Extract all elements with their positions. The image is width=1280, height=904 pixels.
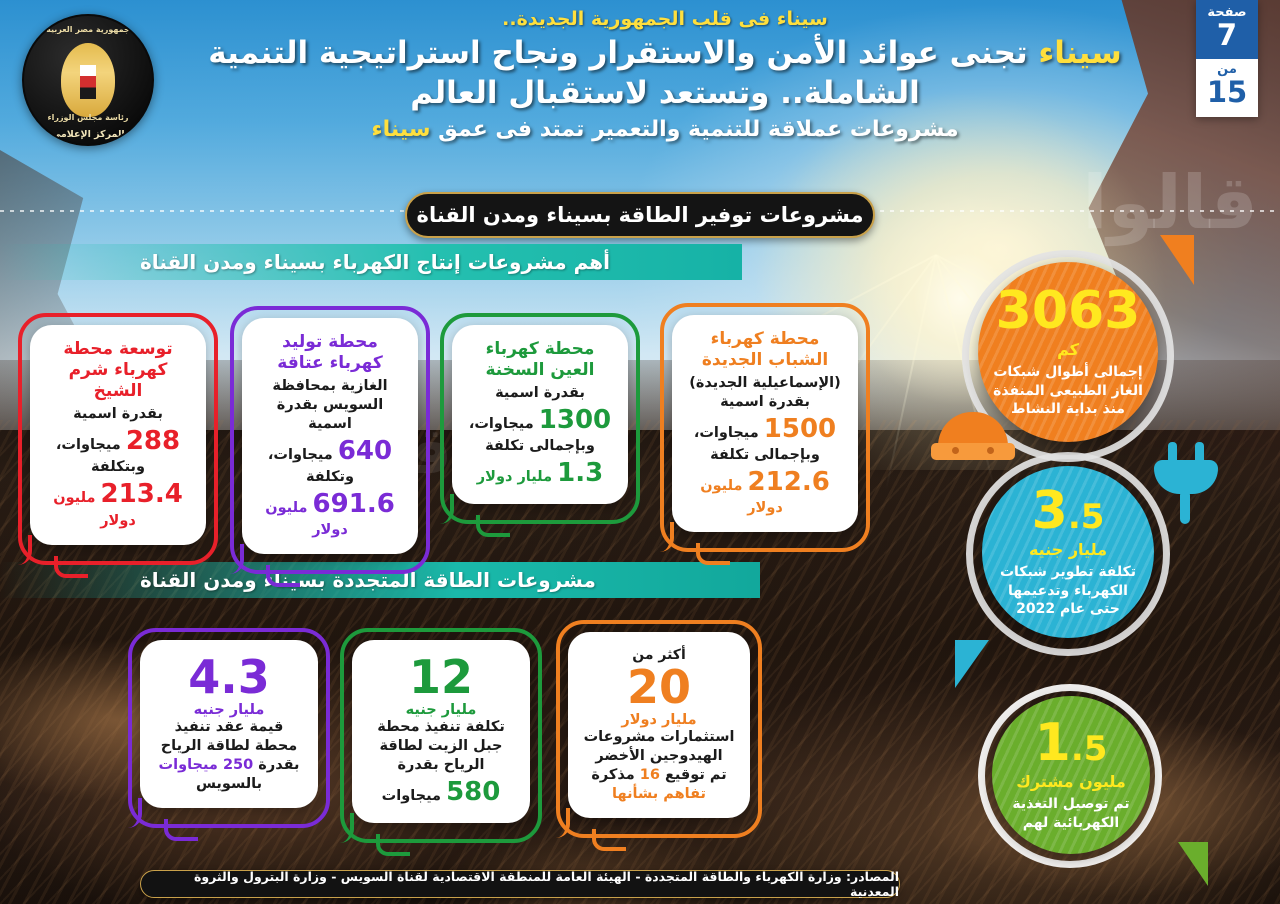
- card-capacity-value: 640: [338, 436, 392, 466]
- card-capacity-line: 640 ميجاوات،: [254, 434, 406, 468]
- card-cost-value: 691.6: [313, 489, 395, 519]
- stat-value-main: 1: [1035, 713, 1071, 773]
- card-cost-line: 691.6 مليون دولار: [254, 487, 406, 540]
- stat-value: 3063: [996, 285, 1141, 337]
- card-title: توسعة محطة كهرباء شرم الشيخ: [42, 339, 194, 402]
- government-logo: جمهورية مصر العربية رئاسة مجلس الوزراء ا…: [22, 14, 154, 146]
- card-cost-line: 212.6 مليون دولار: [684, 465, 846, 518]
- card-line1: قيمة عقد تنفيذ: [152, 718, 306, 737]
- card-renewable-1: 12 مليار جنيه تكلفة تنفيذ محطة جبل الزيت…: [352, 640, 530, 823]
- card-cost-line: 1.3 مليار دولار: [464, 456, 616, 490]
- band-electricity-title: أهم مشروعات إنتاج الكهرباء بسيناء ومدن ا…: [0, 244, 742, 280]
- stat-value-main: 3063: [996, 281, 1141, 341]
- card-line4: تفاهم بشأنها: [580, 785, 738, 804]
- stat-circle-subscribers: 1.5 مليون مشترك تم توصيل التغذية الكهربا…: [992, 696, 1150, 854]
- card-unit: مليار دولار: [580, 712, 738, 728]
- card-value: 12: [364, 654, 518, 700]
- card-line4: 580 ميجاوات: [364, 775, 518, 809]
- card-line3-number: 250: [223, 757, 253, 773]
- page-total: 15: [1196, 77, 1258, 107]
- card-capacity-label: بقدرة اسمية: [42, 405, 194, 424]
- card-capacity-line: 288 ميجاوات،: [42, 424, 194, 458]
- card-title: محطة كهرباء الشباب الجديدة: [684, 329, 846, 371]
- power-plug-icon: [1148, 442, 1224, 506]
- triangle-teal-decoration: [955, 640, 989, 688]
- card-line2: الهيدوجين الأخضر: [580, 747, 738, 766]
- card-cost-label: وبإجمالى تكلفة: [684, 446, 846, 465]
- header-title-highlight: سيناء: [1038, 35, 1121, 71]
- card-line1: استثمارات مشروعات: [580, 728, 738, 747]
- card-cost-label: وبتكلفة: [42, 458, 194, 477]
- stat-value: 1.5: [1035, 717, 1108, 769]
- eagle-emblem-icon: [61, 43, 115, 117]
- stat-value: 3.5: [1032, 485, 1105, 537]
- card-line3: بقدرة 250 ميجاوات: [152, 756, 306, 775]
- header-title-rest: تجنى عوائد الأمن والاستقرار ونجاح استرات…: [208, 35, 1038, 111]
- card-title: محطة كهرباء العين السخنة: [464, 339, 616, 381]
- card-line3-number: 16: [640, 767, 660, 783]
- card-unit: مليار جنيه: [364, 702, 518, 718]
- page-number-badge: صفحة 7 من 15: [1196, 0, 1258, 117]
- card-value: 20: [580, 664, 738, 710]
- card-capacity-value: 1300: [539, 405, 611, 435]
- card-line2: محطة لطاقة الرياح: [152, 737, 306, 756]
- band-renewable-title: مشروعات الطاقة المتجددة بسيناء ومدن القن…: [0, 562, 760, 598]
- card-cost-value: 213.4: [101, 479, 183, 509]
- stat-unit: كم: [1057, 340, 1079, 359]
- page-current: 7: [1196, 20, 1258, 50]
- card-capacity-unit: ميجاوات،: [469, 416, 534, 432]
- stat-circle-electric-networks: 3.5 مليار جنيه تكلفة تطوير شبكات الكهربا…: [982, 466, 1154, 638]
- card-line3-suffix: مذكرة: [591, 767, 639, 783]
- card-capacity-line: 1300 ميجاوات،: [464, 403, 616, 437]
- logo-ring-top-text: جمهورية مصر العربية: [24, 25, 152, 34]
- card-cost-label: وتكلفة: [254, 468, 406, 487]
- header-title: سيناء تجنى عوائد الأمن والاستقرار ونجاح …: [160, 34, 1170, 113]
- stat-value-decimal: .5: [1071, 729, 1108, 769]
- page-badge-top: صفحة 7: [1196, 0, 1258, 59]
- triangle-orange-decoration: [1160, 235, 1194, 285]
- helmet-dot: [987, 447, 994, 454]
- card-capacity-value: 288: [126, 426, 180, 456]
- card-line3-suffix: ميجاوات: [159, 757, 223, 773]
- card-line3: تم توقيع 16 مذكرة: [580, 766, 738, 785]
- card-line4: بالسويس: [152, 775, 306, 794]
- stat-unit: مليون مشترك: [1016, 772, 1126, 791]
- infographic-page: قالوا قالوا جمهورية مصر العربية رئاسة مج…: [0, 0, 1280, 904]
- stat-description: تم توصيل التغذية الكهربائية لهم: [992, 795, 1150, 833]
- card-line4-unit: ميجاوات: [382, 788, 446, 804]
- card-capacity-label: (الإسماعيلية الجديدة) بقدرة اسمية: [684, 374, 846, 412]
- card-electricity-1: محطة توليد كهرباء عتاقة الغازية بمحافظة …: [242, 318, 418, 554]
- card-cost-label: وبإجمالى تكلفة: [464, 437, 616, 456]
- stat-value-decimal: .5: [1068, 497, 1105, 537]
- card-value: 4.3: [152, 654, 306, 700]
- card-renewable-2: أكثر من 20 مليار دولار استثمارات مشروعات…: [568, 632, 750, 818]
- card-capacity-label: الغازية بمحافظة السويس بقدرة اسمية: [254, 377, 406, 434]
- watermark-text: قالوا: [1082, 160, 1258, 246]
- card-title: محطة توليد كهرباء عتاقة: [254, 332, 406, 374]
- card-cost-line: 213.4 مليون دولار: [42, 477, 194, 530]
- card-electricity-0: توسعة محطة كهرباء شرم الشيخ بقدرة اسمية …: [30, 325, 206, 545]
- card-line1: تكلفة تنفيذ محطة: [364, 718, 518, 737]
- card-capacity-line: 1500 ميجاوات،: [684, 412, 846, 446]
- card-capacity-label: بقدرة اسمية: [464, 384, 616, 403]
- header-kicker: سيناء فى قلب الجمهورية الجديدة..: [160, 8, 1170, 30]
- logo-plaque-text: المركز الإعلامى: [51, 129, 124, 140]
- card-renewable-0: 4.3 مليار جنيه قيمة عقد تنفيذ محطة لطاقة…: [140, 640, 318, 808]
- card-line2: جبل الزيت لطاقة: [364, 737, 518, 756]
- card-line4-number: 580: [446, 777, 500, 807]
- card-capacity-unit: ميجاوات،: [694, 425, 759, 441]
- helmet-dot: [952, 447, 959, 454]
- sources-footer: المصادر: وزارة الكهرباء والطاقة المتجددة…: [140, 870, 900, 898]
- header-block: سيناء فى قلب الجمهورية الجديدة.. سيناء ت…: [160, 8, 1170, 142]
- card-capacity-value: 1500: [764, 414, 836, 444]
- card-cost-value: 1.3: [557, 458, 603, 488]
- card-line3-prefix: تم توقيع: [660, 767, 727, 783]
- card-electricity-3: محطة كهرباء الشباب الجديدة (الإسماعيلية …: [672, 315, 858, 532]
- stat-value-main: 3: [1032, 481, 1068, 541]
- card-capacity-unit: ميجاوات،: [268, 447, 333, 463]
- plug-body: [1154, 460, 1218, 494]
- card-cost-value: 212.6: [748, 467, 830, 497]
- header-subtitle-highlight: سيناء: [371, 117, 430, 142]
- card-electricity-2: محطة كهرباء العين السخنة بقدرة اسمية 130…: [452, 325, 628, 504]
- card-capacity-unit: ميجاوات،: [56, 437, 121, 453]
- logo-ring-bottom-text: رئاسة مجلس الوزراء: [24, 113, 152, 122]
- triangle-green-decoration: [1178, 842, 1208, 886]
- header-subtitle: مشروعات عملاقة للتنمية والتعمير تمتد فى …: [160, 117, 1170, 142]
- stat-circle-gas-networks: 3063 كم إجمالى أطوال شبكات الغاز الطبيعى…: [978, 262, 1158, 442]
- card-unit: مليار جنيه: [152, 702, 306, 718]
- header-subtitle-rest: مشروعات عملاقة للتنمية والتعمير تمتد فى …: [430, 117, 958, 142]
- card-line3-prefix: بقدرة: [253, 757, 299, 773]
- stat-description: إجمالى أطوال شبكات الغاز الطبيعى المنفذة…: [978, 363, 1158, 419]
- card-line3: الرياح بقدرة: [364, 756, 518, 775]
- card-cost-unit: مليار دولار: [477, 469, 552, 485]
- stat-unit: مليار جنيه: [1029, 540, 1107, 559]
- section-title-banner: مشروعات توفير الطاقة بسيناء ومدن القناة: [405, 192, 875, 238]
- stat-description: تكلفة تطوير شبكات الكهرباء وتدعيمها حتى …: [982, 563, 1154, 619]
- plug-cord: [1180, 490, 1190, 524]
- page-badge-bottom: من 15: [1196, 59, 1258, 118]
